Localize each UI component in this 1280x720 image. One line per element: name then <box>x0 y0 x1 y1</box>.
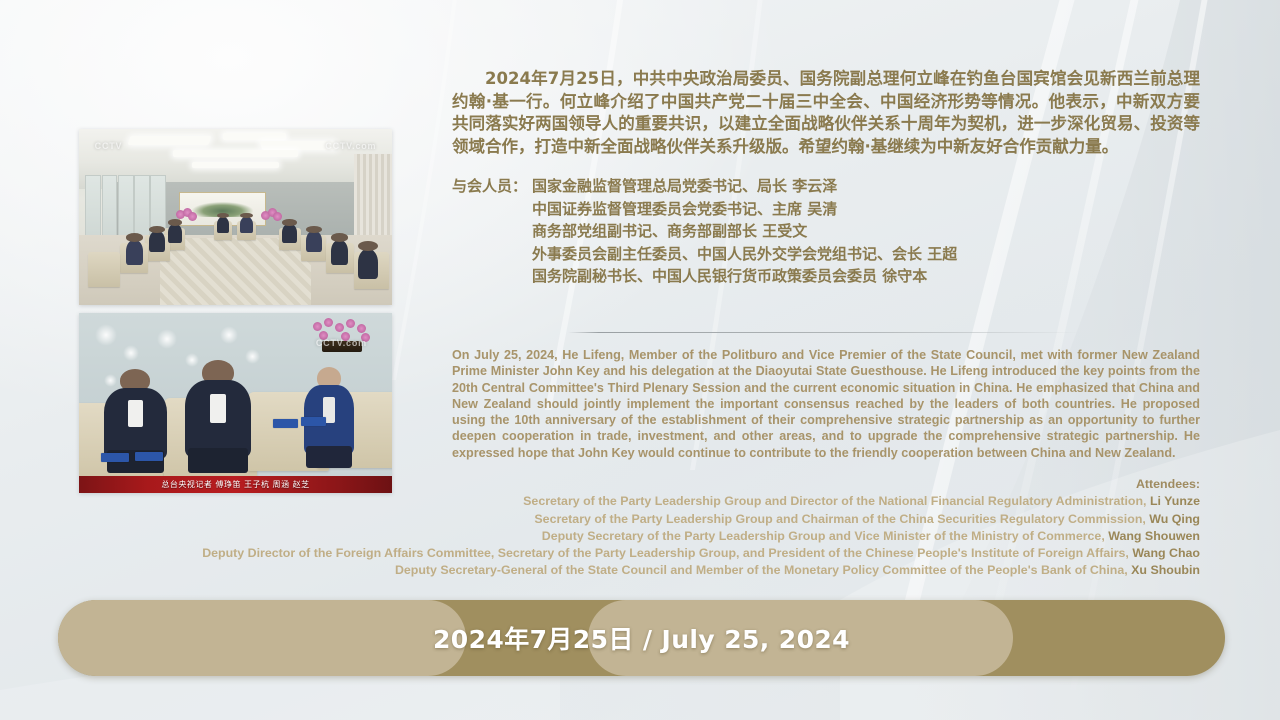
chinese-attendee-text: 外事委员会副主任委员、中国人民外交学会党组书记、会长 王超 <box>532 243 1200 266</box>
english-attendee-row: Secretary of the Party Leadership Group … <box>200 493 1200 510</box>
chinese-attendees-block: 与会人员： 国家金融监督管理总局党委书记、局长 李云泽 与会人员： 中国证券监督… <box>452 175 1200 288</box>
slide-canvas: CCTV CCTV.com <box>0 0 1280 720</box>
article-column: 2024年7月25日，中共中央政治局委员、国务院副总理何立峰在钓鱼台国宾馆会见新… <box>452 68 1200 288</box>
attendee-name: Wu Qing <box>1149 512 1200 526</box>
banner-date-label: 2024年7月25日 / July 25, 2024 <box>58 600 1225 676</box>
section-divider <box>568 332 1080 333</box>
chinese-attendee-row: 与会人员： 外事委员会副主任委员、中国人民外交学会党组书记、会长 王超 <box>452 243 1200 266</box>
attendee-name: Li Yunze <box>1150 494 1200 508</box>
delegates-photo: CCTV.com 总台央视记者 傅琤笛 王子杭 周涵 赵芝 <box>79 313 392 493</box>
chinese-body-text: 2024年7月25日，中共中央政治局委员、国务院副总理何立峰在钓鱼台国宾馆会见新… <box>452 68 1200 158</box>
media-column: CCTV CCTV.com <box>79 129 392 493</box>
chinese-attendee-text: 中国证券监督管理委员会党委书记、主席 吴清 <box>532 198 1200 221</box>
attendee-name: Wang Shouwen <box>1108 529 1200 543</box>
english-attendee-row: Secretary of the Party Leadership Group … <box>200 511 1200 528</box>
attendee-name: Xu Shoubin <box>1131 563 1200 577</box>
attendee-role: Deputy Director of the Foreign Affairs C… <box>202 546 1129 560</box>
chinese-attendees-label: 与会人员： <box>452 175 532 198</box>
english-attendee-row: Deputy Secretary-General of the State Co… <box>200 562 1200 579</box>
chinese-attendee-row: 与会人员： 商务部党组副书记、商务部副部长 王受文 <box>452 220 1200 243</box>
attendee-name: Wang Chao <box>1132 546 1200 560</box>
meeting-room-photo: CCTV CCTV.com <box>79 129 392 305</box>
attendee-role: Deputy Secretary-General of the State Co… <box>395 563 1128 577</box>
cctv-watermark-right: CCTV.com <box>325 141 376 151</box>
cctv-watermark: CCTV.com <box>316 338 367 348</box>
chinese-attendee-row: 与会人员： 国务院副秘书长、中国人民银行货币政策委员会委员 徐守本 <box>452 265 1200 288</box>
chinese-attendee-text: 商务部党组副书记、商务部副部长 王受文 <box>532 220 1200 243</box>
chinese-attendee-text: 国务院副秘书长、中国人民银行货币政策委员会委员 徐守本 <box>532 265 1200 288</box>
attendee-role: Secretary of the Party Leadership Group … <box>534 512 1145 526</box>
english-attendee-row: Deputy Secretary of the Party Leadership… <box>200 528 1200 545</box>
english-attendees-label: Attendees: <box>200 476 1200 493</box>
english-attendee-row: Deputy Director of the Foreign Affairs C… <box>200 545 1200 562</box>
attendee-role: Deputy Secretary of the Party Leadership… <box>542 529 1105 543</box>
english-body-text: On July 25, 2024, He Lifeng, Member of t… <box>452 347 1200 461</box>
english-attendees-block: Attendees: Secretary of the Party Leader… <box>200 476 1200 580</box>
chinese-attendee-row: 与会人员： 国家金融监督管理总局党委书记、局长 李云泽 <box>452 175 1200 198</box>
attendee-role: Secretary of the Party Leadership Group … <box>523 494 1146 508</box>
cctv-watermark-left: CCTV <box>95 141 123 151</box>
chinese-attendee-text: 国家金融监督管理总局党委书记、局长 李云泽 <box>532 175 1200 198</box>
chinese-attendee-row: 与会人员： 中国证券监督管理委员会党委书记、主席 吴清 <box>452 198 1200 221</box>
date-banner: 2024年7月25日 / July 25, 2024 <box>58 600 1225 676</box>
